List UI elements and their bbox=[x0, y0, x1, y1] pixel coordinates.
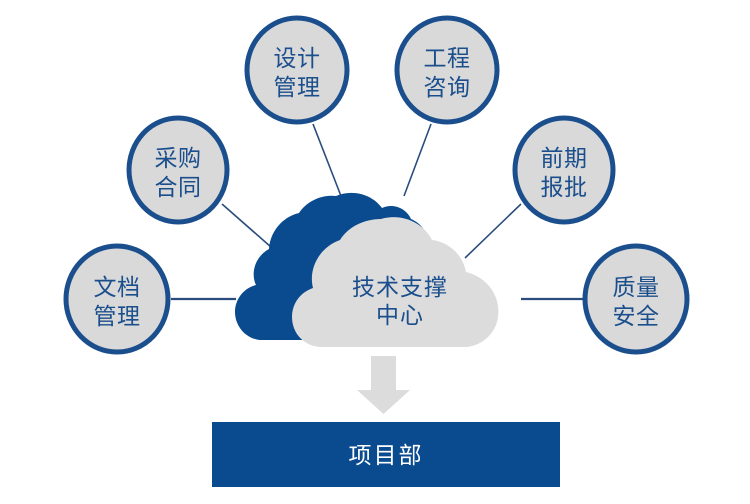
satellite-label-preliminary-approval-line2: 报批 bbox=[541, 174, 588, 200]
org-relationship-diagram: 技术支撑 中心 设计 管理 工程 咨询 采购 合同 前期 报批 文档 管理 bbox=[0, 0, 750, 504]
satellite-node-procurement-contract[interactable]: 采购 合同 bbox=[129, 118, 227, 222]
diagram-canvas: 技术支撑 中心 设计 管理 工程 咨询 采购 合同 前期 报批 文档 管理 bbox=[0, 0, 750, 504]
project-department-label: 项目部 bbox=[349, 442, 424, 468]
satellite-label-quality-safety-line1: 质量 bbox=[613, 274, 660, 300]
satellite-node-document-management[interactable]: 文档 管理 bbox=[66, 246, 168, 352]
hub-cloud-group: 技术支撑 中心 bbox=[235, 193, 498, 347]
satellite-label-engineering-consulting-line1: 工程 bbox=[424, 45, 471, 71]
hub-label-line1: 技术支撑 bbox=[352, 274, 448, 300]
satellite-label-preliminary-approval-line1: 前期 bbox=[541, 145, 588, 171]
satellite-label-procurement-contract-line1: 采购 bbox=[155, 145, 202, 171]
satellite-label-document-management-line2: 管理 bbox=[94, 303, 141, 329]
satellite-node-quality-safety[interactable]: 质量 安全 bbox=[585, 246, 687, 352]
project-department-bar[interactable]: 项目部 bbox=[212, 422, 560, 487]
connector-engineering-consulting bbox=[404, 124, 431, 196]
satellite-label-design-management-line1: 设计 bbox=[274, 45, 321, 71]
connector-design-management bbox=[313, 124, 341, 196]
satellite-label-engineering-consulting-line2: 咨询 bbox=[424, 74, 471, 100]
satellite-node-design-management[interactable]: 设计 管理 bbox=[247, 18, 347, 122]
down-arrow-icon bbox=[357, 356, 410, 414]
satellite-label-procurement-contract-line2: 合同 bbox=[155, 174, 202, 200]
satellite-label-quality-safety-line2: 安全 bbox=[613, 303, 660, 329]
satellite-label-design-management-line2: 管理 bbox=[274, 74, 321, 100]
connector-preliminary-approval bbox=[465, 204, 521, 258]
satellite-label-document-management-line1: 文档 bbox=[94, 274, 141, 300]
hub-label-line2: 中心 bbox=[376, 302, 424, 328]
satellite-node-preliminary-approval[interactable]: 前期 报批 bbox=[515, 118, 613, 222]
satellite-node-engineering-consulting[interactable]: 工程 咨询 bbox=[397, 18, 497, 122]
